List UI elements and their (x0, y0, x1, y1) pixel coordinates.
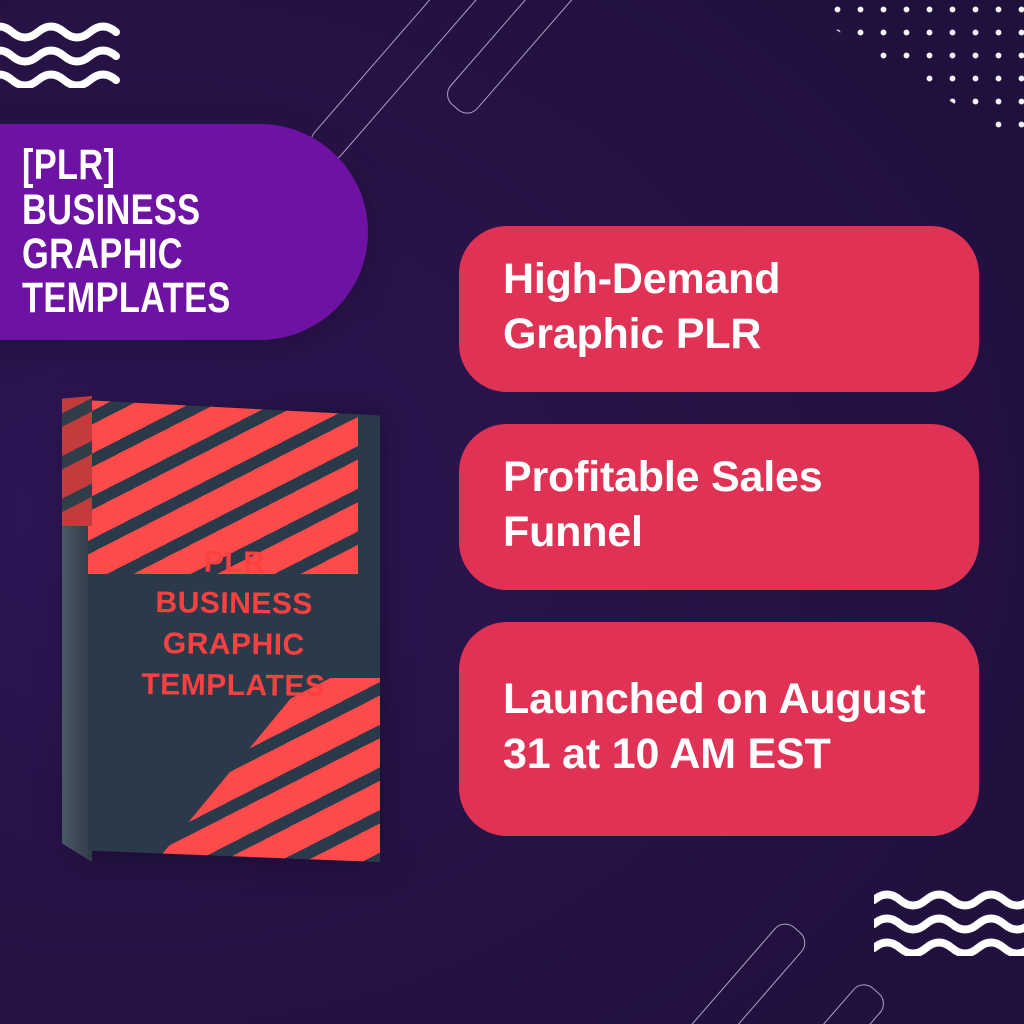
diagonal-bar-outline-bottom-1 (625, 918, 811, 1024)
feature-pill-label: Launched on August 31 at 10 AM EST (503, 672, 935, 782)
wave-lines-bottom-right-icon (874, 890, 1024, 956)
feature-pill-label: Profitable Sales Funnel (503, 450, 935, 560)
diagonal-bar-outline-bottom-2 (710, 979, 889, 1024)
spine-stripes (62, 396, 92, 526)
diagonal-bar-outline-top-1 (305, 0, 491, 166)
book-title-line-2: BUSINESS (155, 583, 313, 624)
product-book-mockup: PLR BUSINESS GRAPHIC TEMPLATES (62, 386, 380, 868)
title-badge: [PLR] BUSINESS GRAPHIC TEMPLATES (0, 124, 368, 340)
book-title-line-1: PLR (204, 543, 266, 583)
feature-pill: Profitable Sales Funnel (459, 424, 979, 590)
feature-pill-list: High-Demand Graphic PLR Profitable Sales… (459, 226, 979, 836)
feature-pill-label: High-Demand Graphic PLR (503, 252, 935, 362)
feature-pill: Launched on August 31 at 10 AM EST (459, 622, 979, 836)
wave-lines-top-left-icon (0, 22, 146, 88)
page-title: [PLR] BUSINESS GRAPHIC TEMPLATES (22, 143, 252, 320)
book-title-line-4: TEMPLATES (141, 665, 325, 706)
book-cover-title: PLR BUSINESS GRAPHIC TEMPLATES (86, 384, 383, 863)
book-title-line-3: GRAPHIC (163, 624, 305, 664)
diagonal-bar-outline-top-2 (441, 0, 620, 119)
feature-pill: High-Demand Graphic PLR (459, 226, 979, 392)
poster-canvas: [PLR] BUSINESS GRAPHIC TEMPLATES PLR BUS… (0, 0, 1024, 1024)
dot-grid-top-right-icon (822, 0, 1024, 144)
